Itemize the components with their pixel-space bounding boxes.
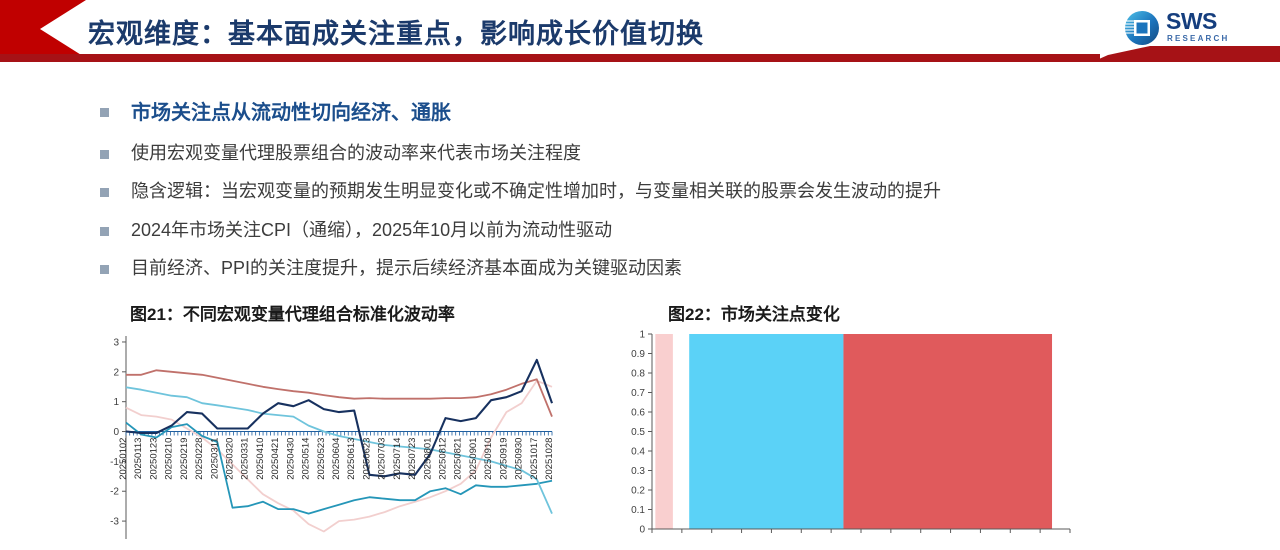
chart22-plot: 10.90.80.70.60.50.40.30.20.10 — [622, 328, 1082, 545]
sws-logo: SWS RESEARCH — [1122, 8, 1268, 50]
chart22-band — [655, 334, 673, 529]
chart21-xtick-label: 20251017 — [529, 438, 540, 480]
chart21-xtick-label: 20250410 — [255, 438, 266, 480]
chart21-xtick-label: 20250812 — [438, 438, 449, 480]
chart21-xtick-label: 20250320 — [225, 438, 236, 480]
chart21-xtick-label: 20250919 — [498, 438, 509, 480]
list-item-label: 使用宏观变量代理股票组合的波动率来代表市场关注程度 — [131, 141, 581, 165]
chart22-ytick-label: 0.3 — [631, 466, 645, 477]
square-bullet-icon — [100, 265, 109, 274]
chart21-plot: 3210-1-2-3202501022025011320250123202502… — [88, 328, 558, 545]
chart21-xtick-label: 20250430 — [285, 438, 296, 480]
chart22-ytick-label: 0.9 — [631, 349, 645, 360]
chart21-ytick-label: -3 — [110, 517, 119, 528]
chart21-xtick-label: 20250901 — [468, 438, 479, 480]
chart21-ytick-label: 3 — [113, 337, 119, 348]
header-bottom-bar — [0, 54, 1100, 62]
chart21-xtick-label: 20250723 — [407, 438, 418, 480]
chart22-ytick-label: 0.4 — [631, 447, 645, 458]
list-item: 2024年市场关注CPI（通缩），2025年10月以前为流动性驱动 — [100, 218, 1220, 242]
chart21-xtick-label: 20250801 — [422, 438, 433, 480]
chart21-xtick-label: 20250113 — [133, 438, 144, 480]
chart22-ytick-label: 0 — [639, 525, 645, 536]
chart21-xtick-label: 20250514 — [301, 438, 312, 480]
page-title: 宏观维度：基本面成关注重点，影响成长价值切换 — [88, 12, 704, 51]
chart21-xtick-label: 20250123 — [148, 438, 159, 480]
chart21-xtick-label: 20250930 — [514, 438, 525, 480]
chart22-ytick-label: 0.7 — [631, 388, 645, 399]
chart22-title: 图22：市场关注点变化 — [668, 300, 840, 325]
chart21-xtick-label: 20250703 — [377, 438, 388, 480]
chart21-xtick-label: 20250421 — [270, 438, 281, 480]
chart21-xtick-label: 20250910 — [483, 438, 494, 480]
chart21-line-chart: 3210-1-2-3202501022025011320250123202502… — [88, 328, 558, 545]
chart22-ytick-label: 0.1 — [631, 505, 645, 516]
chart22-band — [689, 334, 843, 529]
chart21-xtick-label: 20250523 — [316, 438, 327, 480]
chart21-xtick-label: 20250714 — [392, 438, 403, 480]
chart21-xtick-label: 20250219 — [179, 438, 190, 480]
chart22-ytick-label: 1 — [639, 330, 645, 341]
list-item-label: 市场关注点从流动性切向经济、通胀 — [131, 100, 451, 127]
chart21-xtick-label: 20250102 — [118, 438, 129, 480]
sws-circle-logo-icon — [1122, 9, 1162, 47]
list-item-label: 隐含逻辑：当宏观变量的预期发生明显变化或不确定性增加时，与变量相关联的股票会发生… — [131, 179, 941, 203]
chart22-ytick-label: 0.2 — [631, 486, 645, 497]
chart21-xtick-label: 20250821 — [453, 438, 464, 480]
chart22-ytick-label: 0.5 — [631, 427, 645, 438]
chart22-area-chart: 10.90.80.70.60.50.40.30.20.10 — [622, 328, 1082, 545]
square-bullet-icon — [100, 227, 109, 236]
chart21-ytick-label: -2 — [110, 487, 119, 498]
chart21-xtick-label: 20251028 — [544, 438, 555, 480]
square-bullet-icon — [100, 188, 109, 197]
chart21-xtick-label: 20250604 — [331, 438, 342, 480]
list-item-label: 目前经济、PPI的关注度提升，提示后续经济基本面成为关键驱动因素 — [131, 256, 682, 280]
bullet-list: 市场关注点从流动性切向经济、通胀 使用宏观变量代理股票组合的波动率来代表市场关注… — [100, 100, 1220, 294]
square-bullet-icon — [100, 150, 109, 159]
chart22-ytick-label: 0.8 — [631, 369, 645, 380]
chart21-ytick-label: 2 — [113, 367, 119, 378]
list-item-label: 2024年市场关注CPI（通缩），2025年10月以前为流动性驱动 — [131, 218, 612, 242]
chart22-band — [843, 334, 1052, 529]
chart21-xtick-label: 20250331 — [240, 438, 251, 480]
chart21-xtick-label: 20250210 — [164, 438, 175, 480]
slide-header: 宏观维度：基本面成关注重点，影响成长价值切换 — [0, 0, 1280, 62]
chart21-series-line — [126, 370, 552, 416]
chart21-xtick-label: 20250623 — [361, 438, 372, 480]
chart22-ytick-label: 0.6 — [631, 408, 645, 419]
list-item: 市场关注点从流动性切向经济、通胀 — [100, 100, 1220, 127]
square-bullet-icon — [100, 108, 109, 117]
list-item: 隐含逻辑：当宏观变量的预期发生明显变化或不确定性增加时，与变量相关联的股票会发生… — [100, 179, 1220, 203]
chart21-ytick-label: 0 — [113, 427, 119, 438]
list-item: 使用宏观变量代理股票组合的波动率来代表市场关注程度 — [100, 141, 1220, 165]
chart21-xtick-label: 20250228 — [194, 438, 205, 480]
chart21-ytick-label: 1 — [113, 397, 119, 408]
chart21-title: 图21：不同宏观变量代理组合标准化波动率 — [130, 300, 455, 325]
chart21-xtick-label: 20250613 — [346, 438, 357, 480]
list-item: 目前经济、PPI的关注度提升，提示后续经济基本面成为关键驱动因素 — [100, 256, 1220, 280]
sws-logo-text: SWS — [1166, 10, 1217, 33]
sws-logo-subtext: RESEARCH — [1167, 34, 1230, 43]
chart21-xtick-label: 20250311 — [209, 438, 220, 480]
